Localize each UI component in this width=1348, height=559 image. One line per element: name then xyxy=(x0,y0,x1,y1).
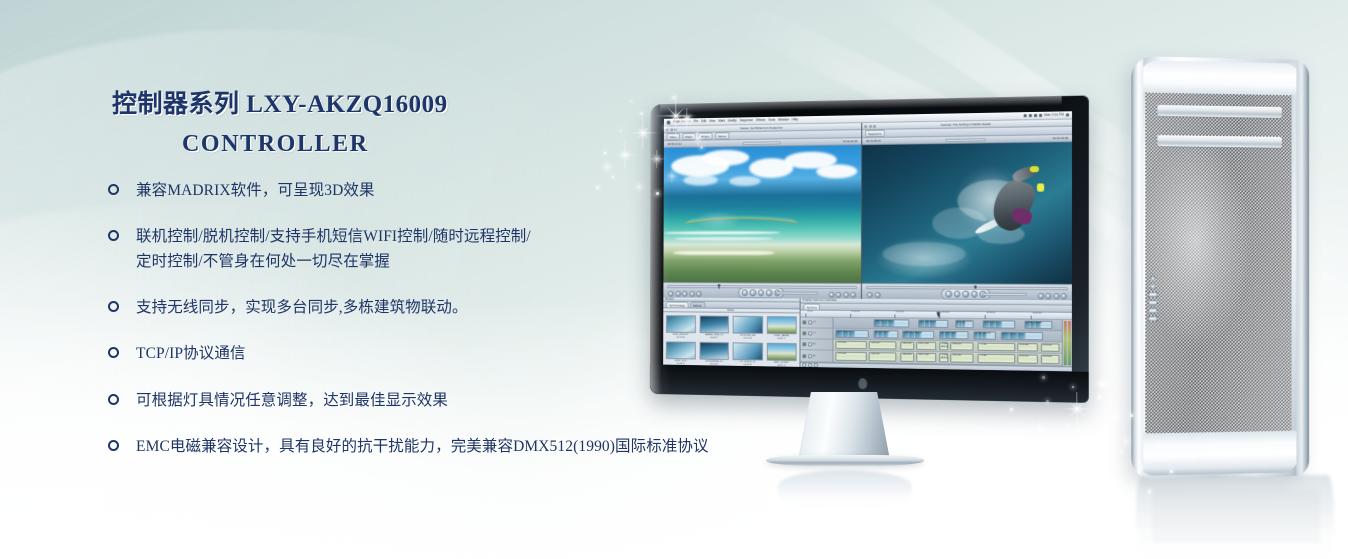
timeline-clip-label: DROP_IN_B xyxy=(1003,332,1015,334)
mark-out-icon[interactable] xyxy=(675,290,681,296)
replace-edit-icon[interactable] xyxy=(967,293,972,298)
track-visibility-icon[interactable] xyxy=(802,320,806,324)
timeline-audio-clip[interactable]: SURF.AIF xyxy=(1017,343,1038,352)
feature-list-item-text: 支持无线同步，实现多台同步,多栋建筑物联动。 xyxy=(136,295,468,320)
canvas-toolbar[interactable]: 00:01:08:19 01:01:44:08 xyxy=(862,135,1072,145)
tab-surf-cut[interactable]: Surf Cut xyxy=(803,304,820,310)
hollow-circle-icon xyxy=(108,394,119,405)
timeline-audio-clip[interactable]: SURF.AIF xyxy=(1017,355,1038,364)
clip-thumbnail[interactable] xyxy=(766,316,796,334)
clip-filmstrip xyxy=(875,320,895,327)
viewer-window[interactable]: Viewer: Surf Ride from Sequence Video Fi… xyxy=(663,123,862,299)
add-keyframe-icon[interactable] xyxy=(689,290,695,296)
frame-back-icon[interactable] xyxy=(1045,293,1051,299)
play-icon[interactable] xyxy=(758,289,764,295)
canvas-window[interactable]: Canvas: The Surfing in Pacific Swells Se… xyxy=(862,119,1072,300)
surfer-wetsuit-accent xyxy=(1010,206,1033,225)
canvas-playhead[interactable] xyxy=(974,285,977,291)
canvas-button-row-right[interactable] xyxy=(1037,293,1066,299)
timeline-window[interactable]: Timeline: Surf Cut in Surf Reel Surf Cut… xyxy=(800,299,1072,372)
surfer-wave-image xyxy=(862,142,1072,284)
menu-item-view[interactable]: View xyxy=(709,120,715,124)
shuttle-left-icon[interactable] xyxy=(1037,293,1043,299)
menu-item-mark[interactable]: Mark xyxy=(718,119,725,123)
timeline-title-text: Timeline: Surf Cut in Surf Reel xyxy=(803,299,837,302)
bluetooth-icon[interactable] xyxy=(1024,114,1027,117)
track-visibility-icon[interactable] xyxy=(802,331,806,335)
browser-clip-item[interactable]: COAST_AERIAL00:31:22 xyxy=(766,316,796,340)
overwrite-edit-icon[interactable] xyxy=(960,293,965,298)
viewer-canvas-row: Viewer: Surf Ride from Sequence Video Fi… xyxy=(663,119,1072,300)
shuttle-right-icon[interactable] xyxy=(850,291,856,297)
timeline-track[interactable]: BARREL_RIDE_01LIP_THROW_04AIR_REVERSEDRO… xyxy=(833,317,1061,331)
frame-forward-icon[interactable] xyxy=(1053,293,1059,299)
browser-title-text: Browser xyxy=(665,298,674,301)
battery-icon[interactable] xyxy=(1039,114,1042,117)
timeline-clip[interactable]: AIR_REVERSE xyxy=(874,330,899,339)
audio-meters[interactable] xyxy=(1062,319,1072,366)
optical-drive-slot-2[interactable] xyxy=(1157,135,1281,148)
wifi-icon[interactable] xyxy=(1034,114,1037,117)
add-marker-icon[interactable] xyxy=(682,290,688,296)
timeline-body: V2V1A1A2 BARREL_RIDE_01LIP_THROW_04AIR_R… xyxy=(800,317,1072,366)
tower-left-edge xyxy=(1131,56,1143,480)
mark-out-icon[interactable] xyxy=(874,292,880,298)
menu-item-edit[interactable]: Edit xyxy=(701,120,706,124)
track-name: A1 xyxy=(813,344,816,346)
shuttle-right-icon[interactable] xyxy=(1061,293,1067,299)
tower-bottom-panel xyxy=(1139,431,1299,476)
shoreline xyxy=(673,251,775,255)
cinema-display: Final Cut Pro File Edit View Mark Modify… xyxy=(650,96,1089,403)
tower-floor-reflection xyxy=(1136,475,1334,559)
timeline-track-headers[interactable]: V2V1A1A2 xyxy=(800,317,833,362)
rainbow xyxy=(675,206,809,242)
tower-top-panel xyxy=(1139,60,1299,95)
clip-thumbnail[interactable] xyxy=(733,343,763,361)
play-around-icon[interactable] xyxy=(766,289,772,295)
viewer-button-row-right[interactable] xyxy=(828,291,856,297)
zoom-slider-icon[interactable] xyxy=(814,363,818,367)
zoom-icon[interactable] xyxy=(873,125,876,128)
tab-filters[interactable]: Filters xyxy=(682,133,695,140)
menu-item-final-cut-pro[interactable]: Final Cut Pro xyxy=(673,120,690,124)
clip-thumbnail[interactable] xyxy=(699,342,729,360)
timeline-clip[interactable]: COAST_AERIAL xyxy=(1024,320,1052,329)
clip-filmstrip xyxy=(956,320,966,326)
firewire-port-icon[interactable] xyxy=(1150,276,1155,281)
clip-duration: 00:31:22 xyxy=(777,338,785,341)
timeline-track-header[interactable]: A2 xyxy=(800,351,832,363)
viewer-image[interactable] xyxy=(663,145,861,283)
canvas-jog-bar[interactable] xyxy=(982,292,1027,296)
shuttle-left-icon[interactable] xyxy=(828,291,834,297)
feature-list-item-text: 可根据灯具情况任意调整，达到最佳显示效果 xyxy=(136,388,448,413)
window-controls[interactable] xyxy=(666,128,677,131)
menu-item-window[interactable]: Window xyxy=(778,118,789,122)
browser-column-name: Name xyxy=(728,309,735,312)
match-frame-icon[interactable] xyxy=(696,291,702,297)
optical-drive-slot-1[interactable] xyxy=(1157,105,1281,118)
hollow-circle-icon xyxy=(108,440,119,451)
feature-list-item-text: 兼容MADRIX软件，可呈现3D效果 xyxy=(136,178,375,203)
play-in-to-out-icon[interactable] xyxy=(954,291,961,298)
timeline-clip-label: DROP_IN_B xyxy=(985,321,997,323)
ethernet-port-icon[interactable] xyxy=(1148,292,1157,297)
mac-pro-tower xyxy=(1131,56,1309,480)
hollow-circle-icon xyxy=(108,347,119,358)
track-lock-icon[interactable] xyxy=(808,331,812,335)
tab-strip-spacer xyxy=(732,134,858,136)
browser-clip-item[interactable]: WHITEWATER_0200:14:03 xyxy=(699,342,729,366)
browser-clip-item[interactable]: BARREL_RIDE_0100:08:17 xyxy=(699,316,729,340)
ruler-tick-label: 05:00:00 xyxy=(1033,313,1042,315)
browser-thumbnail-grid[interactable]: SURF_WIPEOUT00:12:04BARREL_RIDE_0100:08:… xyxy=(663,312,799,367)
clip-filmstrip xyxy=(940,332,957,339)
track-visibility-icon[interactable] xyxy=(802,354,806,358)
browser-timeline-row: Browser Surf Footage Effects Name SURF_W… xyxy=(663,298,1072,372)
browser-clip-item[interactable]: REEF_SUNSET00:25:16 xyxy=(766,343,796,367)
menu-bar-clock[interactable]: Mon 2:14 PM xyxy=(1044,113,1064,117)
timeline-clip[interactable]: DROP_IN_B xyxy=(1001,331,1043,340)
clip-duration: 00:25:16 xyxy=(777,365,785,367)
mark-in-icon[interactable] xyxy=(668,290,674,296)
canvas-playback-buttons[interactable] xyxy=(941,288,990,300)
timeline-clip[interactable]: AIR_REVERSE xyxy=(955,319,973,328)
viewer-title-text: Viewer: Surf Ride from Sequence xyxy=(740,126,782,131)
previous-edit-icon[interactable] xyxy=(742,289,748,295)
tab-video[interactable]: Video xyxy=(667,133,680,140)
timeline-clip[interactable]: LIP_THROW_04 xyxy=(919,319,949,328)
menu-item-sequence[interactable]: Sequence xyxy=(739,119,753,123)
timeline-clip[interactable]: DROP_IN_B xyxy=(836,330,869,339)
browser-clip-item[interactable]: SURF_WIPEOUT00:12:04 xyxy=(666,315,695,339)
timeline-clip-label: LIP_THROW_04 xyxy=(941,332,957,334)
track-name: A2 xyxy=(813,355,816,357)
hollow-circle-icon xyxy=(108,230,119,241)
timeline-clip-label: DROP_IN_B xyxy=(838,331,850,333)
menu-item-help[interactable]: Help xyxy=(792,118,798,122)
minimize-icon[interactable] xyxy=(670,128,673,131)
clip-thumbnail[interactable] xyxy=(733,316,763,334)
ruler-tick-label: 01:00:00 xyxy=(851,311,859,313)
ruler-tick xyxy=(1031,315,1032,319)
ruler-tick xyxy=(939,315,940,319)
hollow-circle-icon xyxy=(108,184,119,195)
surfer-sleeve-accent xyxy=(1037,183,1044,192)
track-visibility-icon[interactable] xyxy=(802,343,806,347)
browser-window[interactable]: Browser Surf Footage Effects Name SURF_W… xyxy=(663,298,800,367)
timeline-audio-clip[interactable]: CU.AIF xyxy=(978,343,1015,352)
surfer-arm xyxy=(1011,164,1037,183)
tab-strip-spacer xyxy=(887,130,1069,133)
play-in-to-out-icon[interactable] xyxy=(750,289,756,295)
menu-bar-extras[interactable]: Mon 2:14 PM xyxy=(1024,113,1069,117)
viewer-zoom-slider[interactable] xyxy=(742,141,780,145)
timeline-audio-clip[interactable]: REEF.AIF xyxy=(869,341,896,350)
browser-clip-item[interactable]: OFFSHORE_AM00:21:09 xyxy=(733,316,763,340)
ruler-tick xyxy=(894,314,895,318)
timeline-track-header[interactable]: A1 xyxy=(800,339,832,351)
timeline-audio-clip[interactable]: CU.AIF xyxy=(978,354,1015,363)
browser-clip-item[interactable]: DROP_IN_B00:06:11 xyxy=(666,342,695,366)
feature-list-item-text: EMC电磁兼容设计，具有良好的抗干扰能力，完美兼容DMX512(1990)国际标… xyxy=(136,434,709,459)
track-lock-icon[interactable] xyxy=(808,343,812,347)
canvas-button-row-left[interactable] xyxy=(867,292,880,298)
surfer-glove xyxy=(1030,166,1039,172)
timeline-clip-label: AIR_REVERSE xyxy=(875,331,889,333)
clip-thumbnail[interactable] xyxy=(699,316,729,334)
timeline-clip[interactable]: DROP_IN_B xyxy=(982,320,1014,329)
menu-item-effects[interactable]: Effects xyxy=(756,119,765,123)
viewer-timecode-in[interactable]: 00:00:14:12 xyxy=(668,142,682,146)
linking-toggle-icon[interactable] xyxy=(802,363,806,367)
canvas-edit-buttons[interactable] xyxy=(953,293,972,298)
product-banner: 控制器系列 LXY-AKZQ16009 CONTROLLER 兼容MADRIX软… xyxy=(0,0,1348,559)
browser-clip-item[interactable]: LIP_THROW_0400:09:28 xyxy=(733,343,763,367)
timeline-clip-label: COAST_AERIAL xyxy=(975,332,991,334)
timeline-clip[interactable]: LIP_THROW_04 xyxy=(939,331,969,340)
canvas-title-text: Canvas: The Surfing in Pacific Swells xyxy=(941,122,991,127)
timeline-audio-clip[interactable]: OCEAN AMB.AIF xyxy=(939,354,948,363)
close-icon[interactable] xyxy=(864,125,867,128)
insert-edit-icon[interactable] xyxy=(953,293,958,298)
timeline-clip-label: BARREL_RIDE_01 xyxy=(876,320,894,322)
track-name: V2 xyxy=(813,321,816,323)
zoom-icon[interactable] xyxy=(674,128,677,131)
surfboard xyxy=(974,215,1007,236)
display-stand-neck xyxy=(798,392,890,460)
tab-stereo[interactable]: Stereo xyxy=(715,132,729,139)
ruler-tick-label: 00:00 xyxy=(807,311,812,313)
tab-surf-footage[interactable]: Surf Footage xyxy=(666,302,688,308)
timeline-audio-clip[interactable]: SWELL.AIF xyxy=(916,353,936,362)
clip-thumbnail[interactable] xyxy=(766,343,796,361)
play-icon[interactable] xyxy=(962,291,969,298)
surfer-figure xyxy=(987,175,1040,235)
viewer-button-row-left[interactable] xyxy=(668,290,702,296)
tab-effects[interactable]: Effects xyxy=(690,302,705,308)
timeline-track-header[interactable]: V1 xyxy=(800,328,832,340)
frame-back-icon[interactable] xyxy=(836,291,842,297)
track-name: V1 xyxy=(813,332,816,334)
menu-bar-spacer xyxy=(801,116,1021,120)
clip-duration: 00:12:04 xyxy=(677,336,685,339)
viewer-transport-controls[interactable] xyxy=(663,282,861,299)
timeline-clip-label: LIP_THROW_04 xyxy=(921,320,937,322)
timeline-clip[interactable]: COAST_AERIAL xyxy=(973,331,996,340)
timeline-track-area[interactable]: BARREL_RIDE_01LIP_THROW_04AIR_REVERSEDRO… xyxy=(833,317,1061,366)
ruler-tick xyxy=(985,315,986,319)
ethernet-port-icon[interactable] xyxy=(1148,300,1157,305)
minimize-icon[interactable] xyxy=(869,125,872,128)
timeline-clip-label: AIR_REVERSE xyxy=(957,321,972,323)
clip-filmstrip xyxy=(874,331,888,337)
canvas-timecode-out[interactable]: 01:01:44:08 xyxy=(1053,136,1068,140)
audio-port-icon[interactable] xyxy=(1148,308,1157,313)
apple-logo-icon[interactable] xyxy=(667,120,671,124)
timeline-audio-clip[interactable]: REEF.AIF xyxy=(950,342,973,351)
timeline-audio-clip[interactable]: SURF.AIF xyxy=(836,352,867,361)
tower-port-cluster[interactable] xyxy=(1147,276,1158,321)
timeline-track[interactable]: DROP_IN_BAIR_REVERSEBARREL_RIDE_01LIP_TH… xyxy=(833,329,1061,343)
timeline-playhead[interactable] xyxy=(936,312,940,318)
previous-edit-icon[interactable] xyxy=(945,290,952,297)
canvas-title-bar[interactable]: Canvas: The Surfing in Pacific Swells xyxy=(862,119,1072,130)
clip-filmstrip xyxy=(1025,321,1041,328)
ruler-tick-label: 04:00:00 xyxy=(986,312,995,314)
timeline-audio-clip[interactable]: REEF.AIF xyxy=(1041,343,1060,352)
menu-item-file[interactable]: File xyxy=(693,120,698,124)
volume-icon[interactable] xyxy=(1029,114,1032,117)
audio-meter-left xyxy=(1064,321,1067,365)
display-screen: Final Cut Pro File Edit View Mark Modify… xyxy=(663,111,1072,371)
menu-item-modify[interactable]: Modify xyxy=(728,119,737,123)
timeline-clip-label: COAST_AERIAL xyxy=(1026,321,1042,323)
clip-duration: 00:21:09 xyxy=(743,337,751,340)
timeline-audio-clip[interactable]: OCEAN AMB.AIF xyxy=(939,342,948,351)
tower-enclosure xyxy=(1131,56,1309,480)
viewer-jog-bar[interactable] xyxy=(776,291,818,295)
tab-motion[interactable]: Motion xyxy=(698,133,712,140)
spotlight-icon[interactable] xyxy=(1066,113,1069,116)
timeline-track[interactable]: SURF.AIFREEF.AIFWAVE.AIFSWELL.AIFOCEAN A… xyxy=(833,340,1061,354)
tower-right-edge xyxy=(1296,60,1309,477)
clip-filmstrip xyxy=(1002,332,1026,339)
snapping-toggle-icon[interactable] xyxy=(808,363,812,367)
clip-filmstrip xyxy=(974,332,987,339)
clip-filmstrip xyxy=(920,320,937,327)
canvas-transport-controls[interactable] xyxy=(862,283,1072,300)
frame-forward-icon[interactable] xyxy=(843,291,849,297)
viewer-timecode-out[interactable]: 01:00:22:04 xyxy=(843,139,857,143)
ruler-tick-label: 03:00:00 xyxy=(941,312,950,314)
headphone-port-icon[interactable] xyxy=(1148,316,1157,321)
track-lock-icon[interactable] xyxy=(808,320,812,324)
display-stand-foot xyxy=(766,455,924,466)
timeline-audio-clip[interactable]: SURF.AIF xyxy=(836,341,867,350)
canvas-tab-strip[interactable]: Sequence xyxy=(862,127,1072,138)
timeline-track-header[interactable]: V2 xyxy=(801,317,833,329)
display-stand-reflection xyxy=(778,470,912,510)
menu-item-tools[interactable]: Tools xyxy=(768,118,775,122)
canvas-image[interactable] xyxy=(862,142,1072,284)
tab-sequence[interactable]: Sequence xyxy=(865,130,884,137)
feature-list-item-text: TCP/IP协议通信 xyxy=(136,341,246,366)
close-icon[interactable] xyxy=(666,128,669,131)
play-around-icon[interactable] xyxy=(971,291,978,298)
usb-port-icon[interactable] xyxy=(1150,284,1155,289)
beach-rainbow-image xyxy=(663,145,861,283)
final-cut-pro-window: Final Cut Pro File Edit View Mark Modify… xyxy=(663,111,1072,371)
clip-duration: 00:08:17 xyxy=(710,337,718,340)
mark-in-icon[interactable] xyxy=(867,292,873,298)
timeline-audio-clip[interactable]: REEF.AIF xyxy=(950,354,973,363)
clip-thumbnail[interactable] xyxy=(666,315,695,333)
hollow-circle-icon xyxy=(108,301,119,312)
feature-list-item: EMC电磁兼容设计，具有良好的抗干扰能力，完美兼容DMX512(1990)国际标… xyxy=(108,434,848,459)
clip-filmstrip xyxy=(983,321,1001,328)
feature-list-item-text: 联机控制/脱机控制/支持手机短信WIFI控制/随时远程控制/ 定时控制/不管身在… xyxy=(136,224,531,274)
clip-thumbnail[interactable] xyxy=(666,342,695,360)
timeline-audio-clip[interactable]: SWELL.AIF xyxy=(916,342,936,351)
canvas-zoom-slider[interactable] xyxy=(946,138,986,142)
audio-meter-right xyxy=(1068,321,1071,365)
track-lock-icon[interactable] xyxy=(808,354,812,358)
next-edit-icon[interactable] xyxy=(979,291,986,298)
